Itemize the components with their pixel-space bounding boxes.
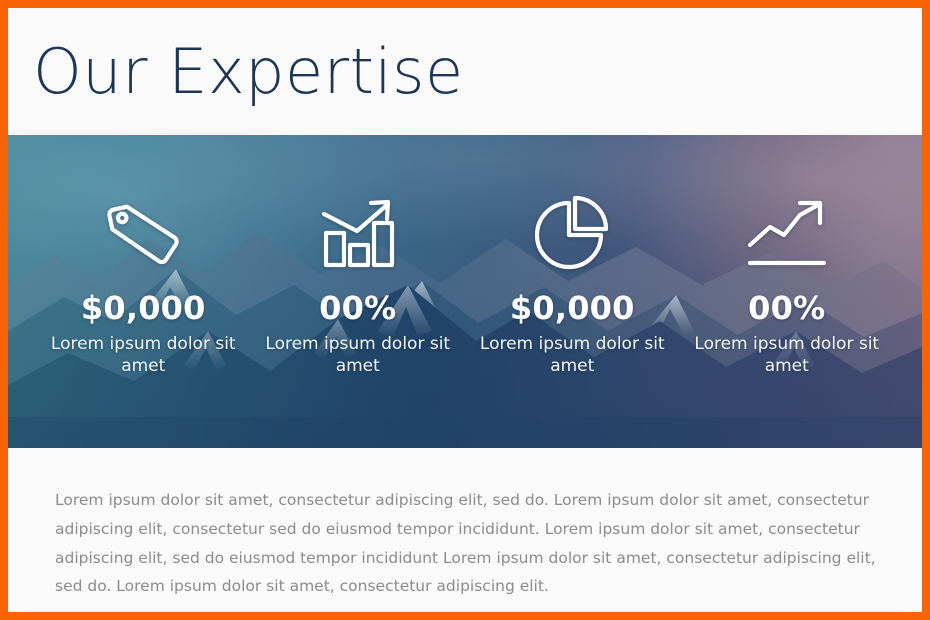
header: Our Expertise [8,8,922,135]
stats-row: $0,000 Lorem ipsum dolor sit amet 00% Lo… [8,135,922,448]
trend-up-arrow-icon [742,190,832,276]
stat-item: 00% Lorem ipsum dolor sit amet [680,190,895,378]
stat-item: $0,000 Lorem ipsum dolor sit amet [36,190,251,378]
stat-item: $0,000 Lorem ipsum dolor sit amet [465,190,680,378]
slide-frame: Our Expertise [0,0,930,620]
stat-value: $0,000 [510,292,635,326]
pie-chart-icon [531,190,613,276]
stat-label: Lorem ipsum dolor sit amet [51,333,236,378]
stat-value: $0,000 [81,292,206,326]
stat-value: 00% [748,292,825,326]
price-tag-icon [102,190,184,276]
body-paragraph: Lorem ipsum dolor sit amet, consectetur … [8,448,922,601]
stat-label: Lorem ipsum dolor sit amet [480,333,665,378]
stat-value: 00% [319,292,396,326]
stat-label: Lorem ipsum dolor sit amet [694,333,879,378]
stat-label: Lorem ipsum dolor sit amet [265,333,450,378]
bar-chart-growth-icon [317,190,399,276]
stat-item: 00% Lorem ipsum dolor sit amet [251,190,466,378]
page-title: Our Expertise [8,41,464,103]
banner: $0,000 Lorem ipsum dolor sit amet 00% Lo… [8,135,922,448]
body-section: Lorem ipsum dolor sit amet, consectetur … [8,448,922,612]
